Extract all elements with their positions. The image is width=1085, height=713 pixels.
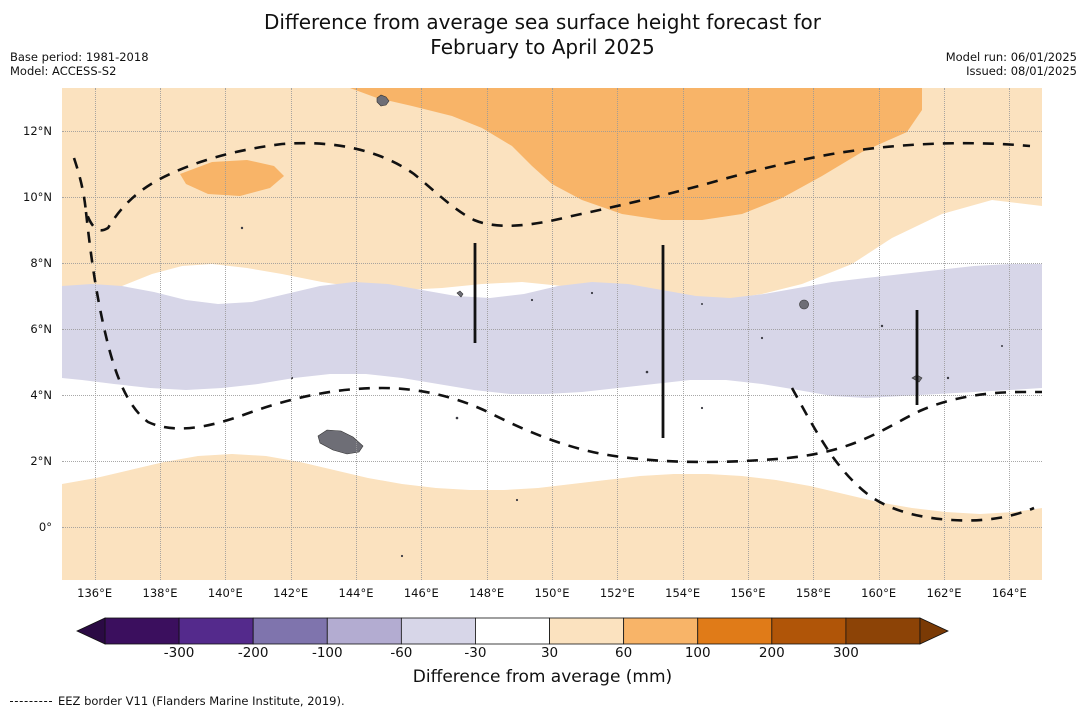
- colorbar-tick-label: 30: [541, 645, 558, 661]
- colorbar-segment: [327, 618, 401, 644]
- colorbar-segment: [179, 618, 253, 644]
- colorbar-segment: [772, 618, 846, 644]
- model-run-text: Model run: 06/01/2025: [946, 50, 1077, 64]
- colorbar-segment: [401, 618, 475, 644]
- x-tick-label: 144°E: [339, 586, 374, 600]
- y-tick-label: 2°N: [0, 454, 52, 468]
- dashed-line-icon: [10, 701, 52, 702]
- colorbar-segment: [624, 618, 698, 644]
- colorbar-tick-label: 100: [685, 645, 711, 661]
- x-tick-label: 160°E: [861, 586, 896, 600]
- colorbar-tick-label: -200: [238, 645, 269, 661]
- x-tick-label: 142°E: [273, 586, 308, 600]
- metadata-left: Base period: 1981-2018 Model: ACCESS-S2: [10, 50, 149, 78]
- y-tick-label: 6°N: [0, 322, 52, 336]
- colorbar-segment: [253, 618, 327, 644]
- colorbar-segment: [550, 618, 624, 644]
- footnote-text: EEZ border V11 (Flanders Marine Institut…: [58, 694, 345, 708]
- colorbar-extend-low: [77, 618, 105, 644]
- issued-text: Issued: 08/01/2025: [946, 64, 1077, 78]
- x-tick-label: 156°E: [731, 586, 766, 600]
- x-tick-label: 164°E: [992, 586, 1027, 600]
- y-tick-label: 4°N: [0, 388, 52, 402]
- colorbar-label: Difference from average (mm): [0, 667, 1085, 687]
- x-tick-label: 154°E: [665, 586, 700, 600]
- eez-legend-footnote: EEZ border V11 (Flanders Marine Institut…: [10, 694, 345, 708]
- metadata-right: Model run: 06/01/2025 Issued: 08/01/2025: [946, 50, 1077, 78]
- x-tick-label: 162°E: [927, 586, 962, 600]
- colorbar-tick-label: 300: [833, 645, 859, 661]
- y-tick-label: 8°N: [0, 256, 52, 270]
- ssh-anomaly-field: [62, 88, 1042, 580]
- colorbar[interactable]: [105, 618, 920, 644]
- x-tick-label: 140°E: [208, 586, 243, 600]
- page-title: Difference from average sea surface heig…: [0, 10, 1085, 60]
- x-tick-label: 138°E: [143, 586, 178, 600]
- x-tick-label: 146°E: [404, 586, 439, 600]
- y-tick-label: 12°N: [0, 124, 52, 138]
- model-text: Model: ACCESS-S2: [10, 64, 149, 78]
- x-tick-label: 152°E: [600, 586, 635, 600]
- x-tick-label: 158°E: [796, 586, 831, 600]
- colorbar-segment: [475, 618, 549, 644]
- colorbar-tick-label: -100: [312, 645, 343, 661]
- colorbar-tick-label: 60: [615, 645, 632, 661]
- map-plot-area[interactable]: © Commonwealth of Australia 2025, Bureau…: [62, 88, 1042, 580]
- y-tick-label: 0°: [0, 520, 52, 534]
- colorbar-tick-label: 200: [759, 645, 785, 661]
- colorbar-tick-label: -300: [164, 645, 195, 661]
- title-line-1: Difference from average sea surface heig…: [264, 10, 821, 34]
- colorbar-tick-label: -30: [464, 645, 486, 661]
- colorbar-segment: [846, 618, 920, 644]
- y-tick-label: 10°N: [0, 190, 52, 204]
- x-tick-label: 136°E: [77, 586, 112, 600]
- colorbar-segment: [698, 618, 772, 644]
- base-period-text: Base period: 1981-2018: [10, 50, 149, 64]
- colorbar-extend-high: [920, 618, 948, 644]
- colorbar-tick-label: -60: [390, 645, 412, 661]
- colorbar-segment: [105, 618, 179, 644]
- x-tick-label: 150°E: [535, 586, 570, 600]
- title-line-2: February to April 2025: [0, 35, 1085, 60]
- x-tick-label: 148°E: [469, 586, 504, 600]
